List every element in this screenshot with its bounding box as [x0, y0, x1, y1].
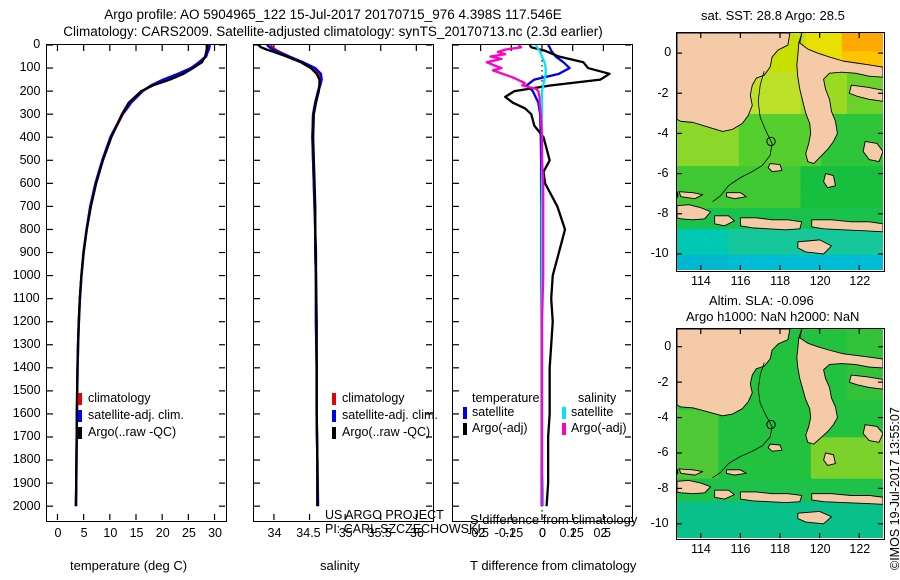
map-y-tick: -6: [657, 445, 668, 459]
salinity-x-axis-label: salinity: [320, 558, 360, 573]
map-x-tick: 120: [810, 542, 831, 556]
salinity-legend-label: climatology: [342, 391, 405, 405]
legend-swatch: [332, 427, 336, 439]
legend-swatch: [78, 427, 82, 439]
temperature-legend-label: satellite-adj. clim.: [88, 408, 184, 422]
temperature-x-tick: 10: [103, 526, 117, 540]
legend-swatch: [78, 410, 82, 422]
pi-label: PI: CARL SZCZECHOWSKI: [325, 522, 481, 536]
difference-legend-label: satellite: [472, 405, 514, 419]
sla-map-title-line1: Altim. SLA: -0.096: [709, 293, 814, 308]
us-argo-project-label: US ARGO PROJECT: [325, 508, 444, 522]
map-y-tick: -2: [657, 86, 668, 100]
temperature-plot-area: [47, 45, 225, 520]
figure-title-line1: Argo profile: AO 5904965_122 15-Jul-2017…: [28, 7, 638, 22]
map-y-tick: -2: [657, 375, 668, 389]
map-y-tick: 0: [664, 339, 671, 353]
temperature-y-tick: 1900: [13, 476, 41, 490]
salinity-x-tick: 34.5: [296, 526, 320, 540]
legend-swatch: [562, 423, 566, 435]
temperature-y-tick: 1100: [13, 291, 40, 305]
difference-legend-label: Argo(-adj): [472, 421, 528, 435]
map-x-tick: 122: [849, 274, 870, 288]
temperature-y-tick: 400: [20, 130, 41, 144]
map-y-tick: -4: [657, 410, 668, 424]
map-y-tick: -10: [651, 246, 669, 260]
temperature-y-tick: 900: [20, 245, 41, 259]
temperature-y-tick: 200: [20, 84, 41, 98]
legend-swatch: [463, 407, 467, 419]
temperature-y-tick: 1300: [13, 337, 41, 351]
temperature-x-axis-label: temperature (deg C): [70, 558, 187, 573]
temperature-y-tick: 1400: [13, 360, 41, 374]
temperature-legend-label: climatology: [88, 391, 151, 405]
map-x-tick: 116: [731, 542, 751, 556]
legend-swatch: [332, 393, 336, 405]
figure-root: Argo profile: AO 5904965_122 15-Jul-2017…: [0, 0, 900, 580]
map-x-tick: 114: [691, 274, 711, 288]
map-x-tick: 116: [731, 274, 751, 288]
temperature-x-tick: 5: [81, 526, 88, 540]
salinity-profile-panel: [253, 44, 434, 522]
difference-plot-area: [453, 45, 631, 520]
map-y-tick: -8: [657, 206, 668, 220]
map-y-tick: -8: [657, 481, 668, 495]
difference-t-tick: 2: [600, 526, 607, 540]
map-x-tick: 118: [770, 542, 790, 556]
sla-map-title-line2: Argo h1000: NaN h2000: NaN: [686, 309, 859, 324]
legend-swatch: [78, 393, 82, 405]
difference-t-tick: -1: [505, 526, 516, 540]
map-x-tick: 114: [691, 542, 711, 556]
temperature-profile-panel: [46, 44, 227, 522]
difference-t-tick: 0: [539, 526, 546, 540]
figure-title-line2: Climatology: CARS2009. Satellite-adjuste…: [28, 24, 638, 39]
map-y-tick: -4: [657, 126, 668, 140]
temperature-y-tick: 2000: [13, 499, 41, 513]
difference-legend-label: Argo(-adj): [571, 421, 627, 435]
temperature-y-tick: 1200: [13, 314, 41, 328]
temperature-y-tick: 1500: [13, 383, 41, 397]
map-y-tick: -10: [651, 516, 669, 530]
salinity-plot-area: [254, 45, 432, 520]
temperature-y-tick: 500: [20, 153, 41, 167]
temperature-x-tick: 20: [156, 526, 170, 540]
difference-t-tick: -2: [474, 526, 485, 540]
temperature-x-tick: 30: [208, 526, 222, 540]
temperature-y-tick: 800: [20, 222, 41, 236]
map-x-tick: 122: [849, 542, 870, 556]
temperature-y-tick: 1600: [13, 406, 41, 420]
sst-map-title: sat. SST: 28.8 Argo: 28.5: [701, 8, 845, 23]
temperature-y-tick: 1000: [13, 268, 41, 282]
difference-salinity-axis-label: S difference from climatology: [470, 512, 637, 527]
temperature-y-tick: 100: [20, 60, 41, 74]
salinity-legend-label: Argo(..raw -QC): [342, 425, 430, 439]
temperature-y-tick: 300: [20, 107, 41, 121]
difference-profile-panel: [452, 44, 633, 522]
sst-map-area: [677, 33, 883, 270]
sla-map-area: [677, 329, 883, 538]
legend-swatch: [332, 410, 336, 422]
difference-legend-heading: temperature: [472, 391, 539, 405]
sla-map-panel: [676, 328, 885, 540]
difference-legend-label: satellite: [571, 405, 613, 419]
difference-temperature-axis-label: T difference from climatology: [470, 558, 636, 573]
map-x-tick: 120: [810, 274, 831, 288]
temperature-y-tick: 0: [33, 37, 40, 51]
temperature-y-tick: 600: [20, 176, 41, 190]
temperature-y-tick: 700: [20, 199, 41, 213]
temperature-x-tick: 0: [54, 526, 61, 540]
temperature-x-tick: 25: [182, 526, 196, 540]
temperature-x-tick: 15: [130, 526, 144, 540]
map-y-tick: -6: [657, 166, 668, 180]
temperature-y-tick: 1800: [13, 452, 41, 466]
map-y-tick: 0: [664, 45, 671, 59]
legend-swatch: [463, 423, 467, 435]
difference-legend-heading: salinity: [578, 391, 616, 405]
salinity-legend-label: satellite-adj. clim.: [342, 408, 438, 422]
sst-map-panel: [676, 32, 885, 272]
legend-swatch: [562, 407, 566, 419]
salinity-x-tick: 34: [268, 526, 282, 540]
map-x-tick: 118: [770, 274, 790, 288]
temperature-legend-label: Argo(..raw -QC): [88, 425, 176, 439]
temperature-y-tick: 1700: [13, 429, 41, 443]
difference-t-tick: 1: [570, 526, 577, 540]
copyright-label: ©IMOS 19-Jul-2017 13:55:07: [888, 407, 900, 570]
